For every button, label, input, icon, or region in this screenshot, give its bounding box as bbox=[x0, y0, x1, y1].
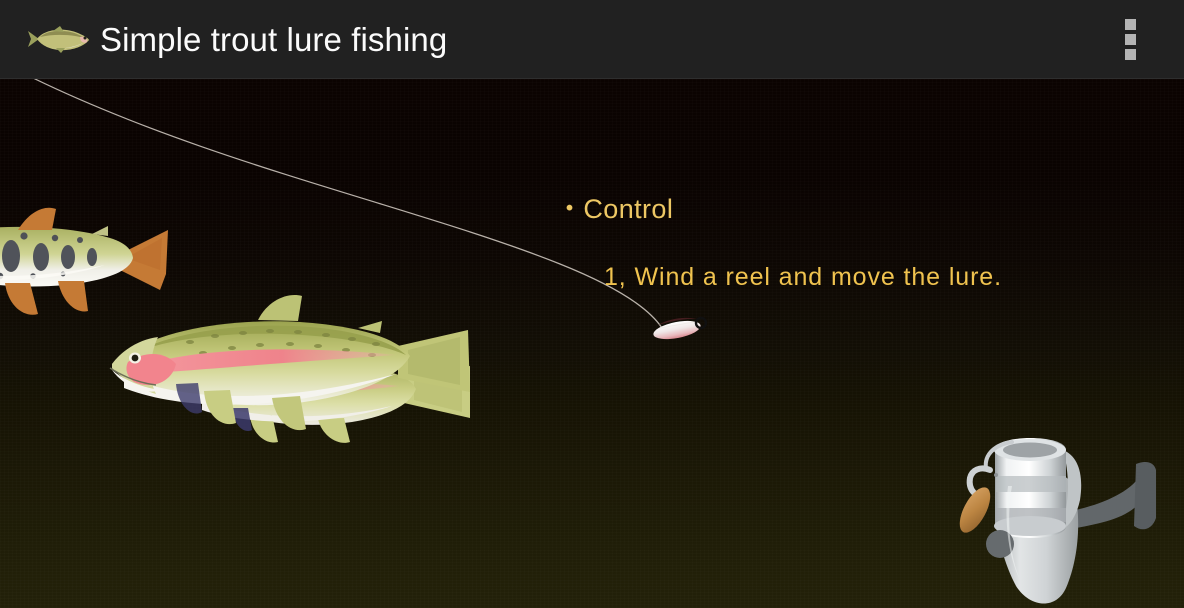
overflow-menu-icon[interactable] bbox=[1114, 18, 1148, 62]
control-heading: ・Control bbox=[556, 192, 673, 226]
reel-graphic bbox=[954, 438, 1156, 604]
app-header-bar: Simple trout lure fishing bbox=[0, 0, 1184, 78]
instruction-step-1: 1, Wind a reel and move the lure. bbox=[604, 261, 1002, 294]
page-title: Simple trout lure fishing bbox=[100, 19, 447, 60]
fishing-game-screen: Simple trout lure fishing bbox=[0, 0, 1184, 608]
menu-dot-top bbox=[1125, 19, 1136, 30]
menu-dot-middle bbox=[1125, 34, 1136, 45]
spinning-reel[interactable] bbox=[0, 78, 1184, 608]
menu-dot-bottom bbox=[1125, 49, 1136, 60]
trout-app-icon bbox=[26, 22, 92, 56]
game-water-scene[interactable]: ・Control 1, Wind a reel and move the lur… bbox=[0, 78, 1184, 608]
